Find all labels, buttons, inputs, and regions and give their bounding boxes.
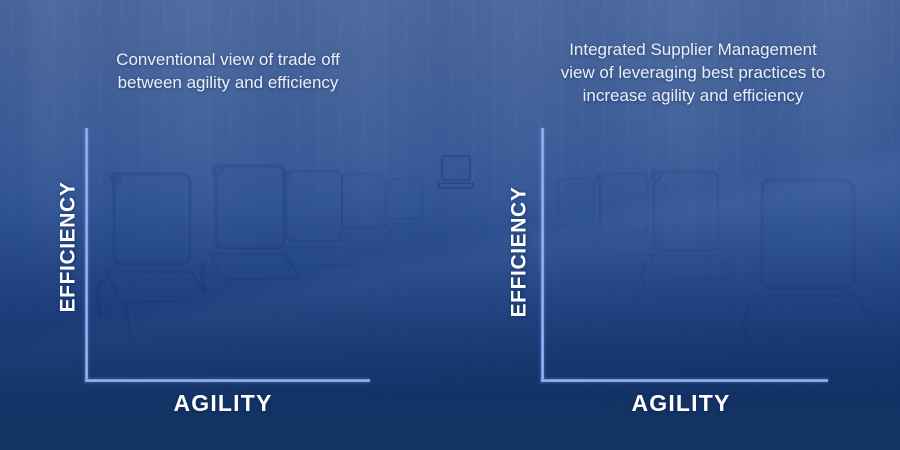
integrated-x-axis-line bbox=[541, 379, 828, 382]
panel-conventional-caption: Conventional view of trade off between a… bbox=[78, 48, 378, 94]
panel-integrated-caption: Integrated Supplier Management view of l… bbox=[528, 38, 858, 107]
caption-line-1: Conventional view of trade off bbox=[78, 48, 378, 71]
conventional-y-axis-label: EFFICIENCY bbox=[57, 165, 81, 330]
slide-canvas: Conventional view of trade off between a… bbox=[0, 0, 900, 450]
caption-line-1: Integrated Supplier Management bbox=[528, 38, 858, 61]
caption-line-2: between agility and efficiency bbox=[78, 71, 378, 94]
integrated-x-axis-label: AGILITY bbox=[601, 390, 761, 417]
integrated-y-axis-label: EFFICIENCY bbox=[508, 170, 532, 335]
integrated-y-axis-line bbox=[541, 128, 544, 382]
caption-line-2: view of leveraging best practices to bbox=[528, 61, 858, 84]
panel-conventional: Conventional view of trade off between a… bbox=[0, 0, 450, 450]
conventional-x-axis-label: AGILITY bbox=[143, 390, 303, 417]
caption-line-3: increase agility and efficiency bbox=[528, 84, 858, 107]
conventional-y-axis-line bbox=[85, 128, 88, 382]
conventional-x-axis-line bbox=[85, 379, 370, 382]
panel-integrated-supplier-management: Integrated Supplier Management view of l… bbox=[450, 0, 900, 450]
